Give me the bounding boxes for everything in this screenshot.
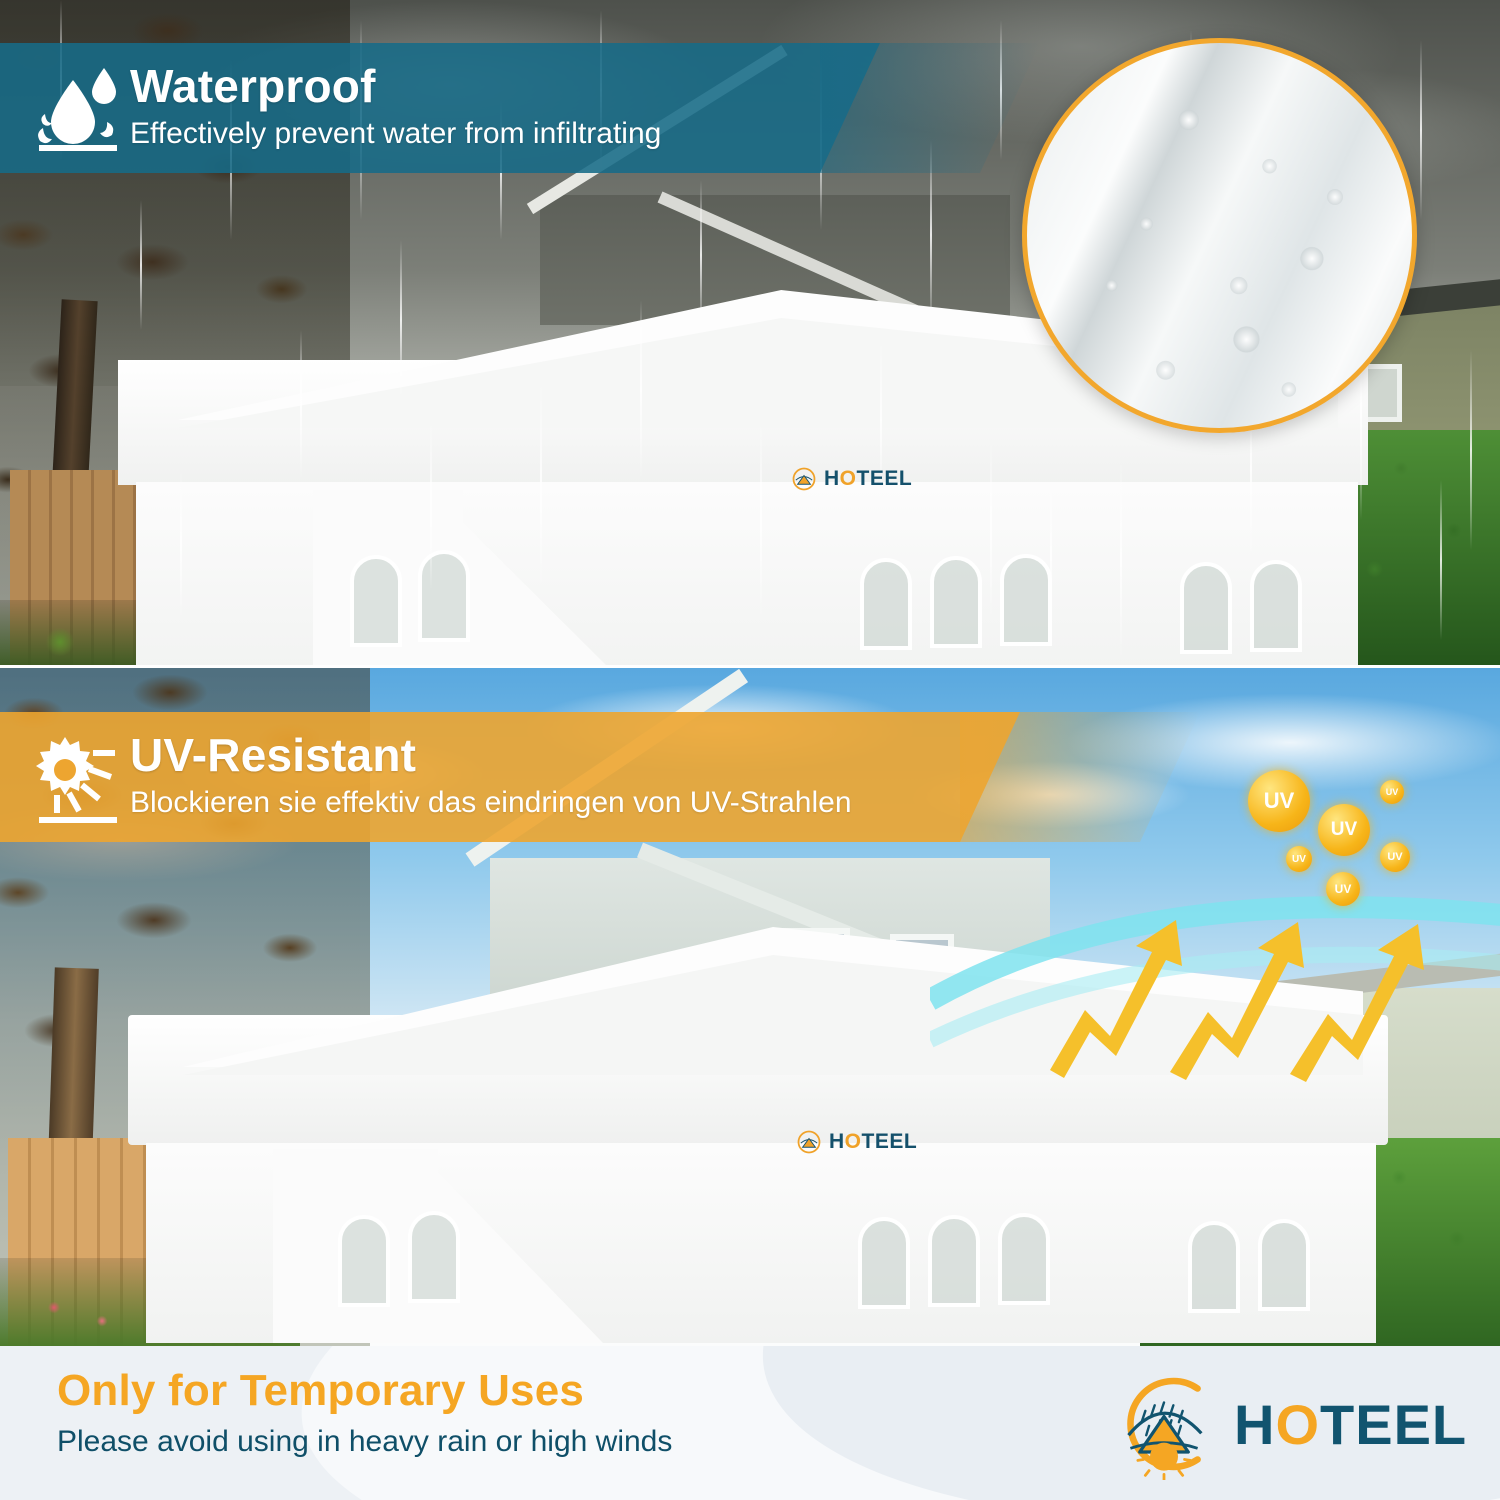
tent-brand-logo-bottom: HOTEEL bbox=[795, 1128, 917, 1156]
tent-window bbox=[1258, 1219, 1310, 1311]
tent-window bbox=[930, 556, 982, 648]
footer-text-block: Only for Temporary Uses Please avoid usi… bbox=[57, 1368, 672, 1460]
banner-title: UV-Resistant bbox=[130, 732, 852, 778]
uv-sun-large: UV bbox=[1248, 770, 1310, 832]
hoteel-logo: HOTEEL bbox=[1108, 1366, 1468, 1482]
banner-text-block: UV-Resistant Blockieren sie effektiv das… bbox=[130, 732, 852, 822]
banner-uv-resistant: UV-Resistant Blockieren sie effektiv das… bbox=[0, 712, 1020, 842]
tent-window bbox=[1250, 560, 1302, 652]
tent-brand-logo-top: HOTEEL bbox=[790, 465, 912, 493]
banner-waterproof: Waterproof Effectively prevent water fro… bbox=[0, 43, 880, 173]
tent-rain-sun-icon bbox=[795, 1128, 823, 1156]
panel-waterproof: HOTEEL bbox=[0, 0, 1500, 665]
banner-subtitle: Blockieren sie effektiv das eindringen v… bbox=[130, 784, 852, 822]
tent-window bbox=[418, 550, 470, 642]
tent-brand-text: HOTEEL bbox=[829, 1130, 917, 1154]
tent-window bbox=[928, 1215, 980, 1307]
tent-window bbox=[860, 558, 912, 650]
tent-window bbox=[1188, 1221, 1240, 1313]
uv-sun-small: UV bbox=[1380, 780, 1404, 804]
sun-icon bbox=[26, 731, 130, 823]
uv-sun-small: UV bbox=[1380, 842, 1410, 872]
uv-sun-medium: UV bbox=[1318, 804, 1370, 856]
tent-window bbox=[998, 1213, 1050, 1305]
banner-text-block: Waterproof Effectively prevent water fro… bbox=[130, 63, 661, 153]
tent-rain-sun-icon bbox=[1108, 1368, 1220, 1480]
tent-window bbox=[858, 1217, 910, 1309]
waterproof-fabric-closeup bbox=[1022, 38, 1417, 433]
tent-window bbox=[408, 1211, 460, 1303]
uv-sun-small: UV bbox=[1326, 872, 1360, 906]
banner-subtitle: Effectively prevent water from infiltrat… bbox=[130, 115, 661, 153]
tent-window bbox=[1180, 562, 1232, 654]
footer-title: Only for Temporary Uses bbox=[57, 1368, 672, 1414]
tent-brand-text: HOTEEL bbox=[824, 467, 912, 491]
tent-rain-sun-icon bbox=[790, 465, 818, 493]
water-drop-icon bbox=[26, 62, 130, 154]
product-feature-image: HOTEEL bbox=[0, 0, 1500, 1500]
uv-sun-small: UV bbox=[1286, 846, 1312, 872]
tent-window bbox=[1000, 554, 1052, 646]
tent-window bbox=[350, 555, 402, 647]
hoteel-wordmark: HOTEEL bbox=[1234, 1392, 1467, 1457]
footer-subtitle: Please avoid using in heavy rain or high… bbox=[57, 1424, 672, 1460]
tent-window bbox=[338, 1215, 390, 1307]
banner-title: Waterproof bbox=[130, 63, 661, 109]
uv-sun-icons: UV UV UV UV UV UV bbox=[1230, 760, 1500, 940]
